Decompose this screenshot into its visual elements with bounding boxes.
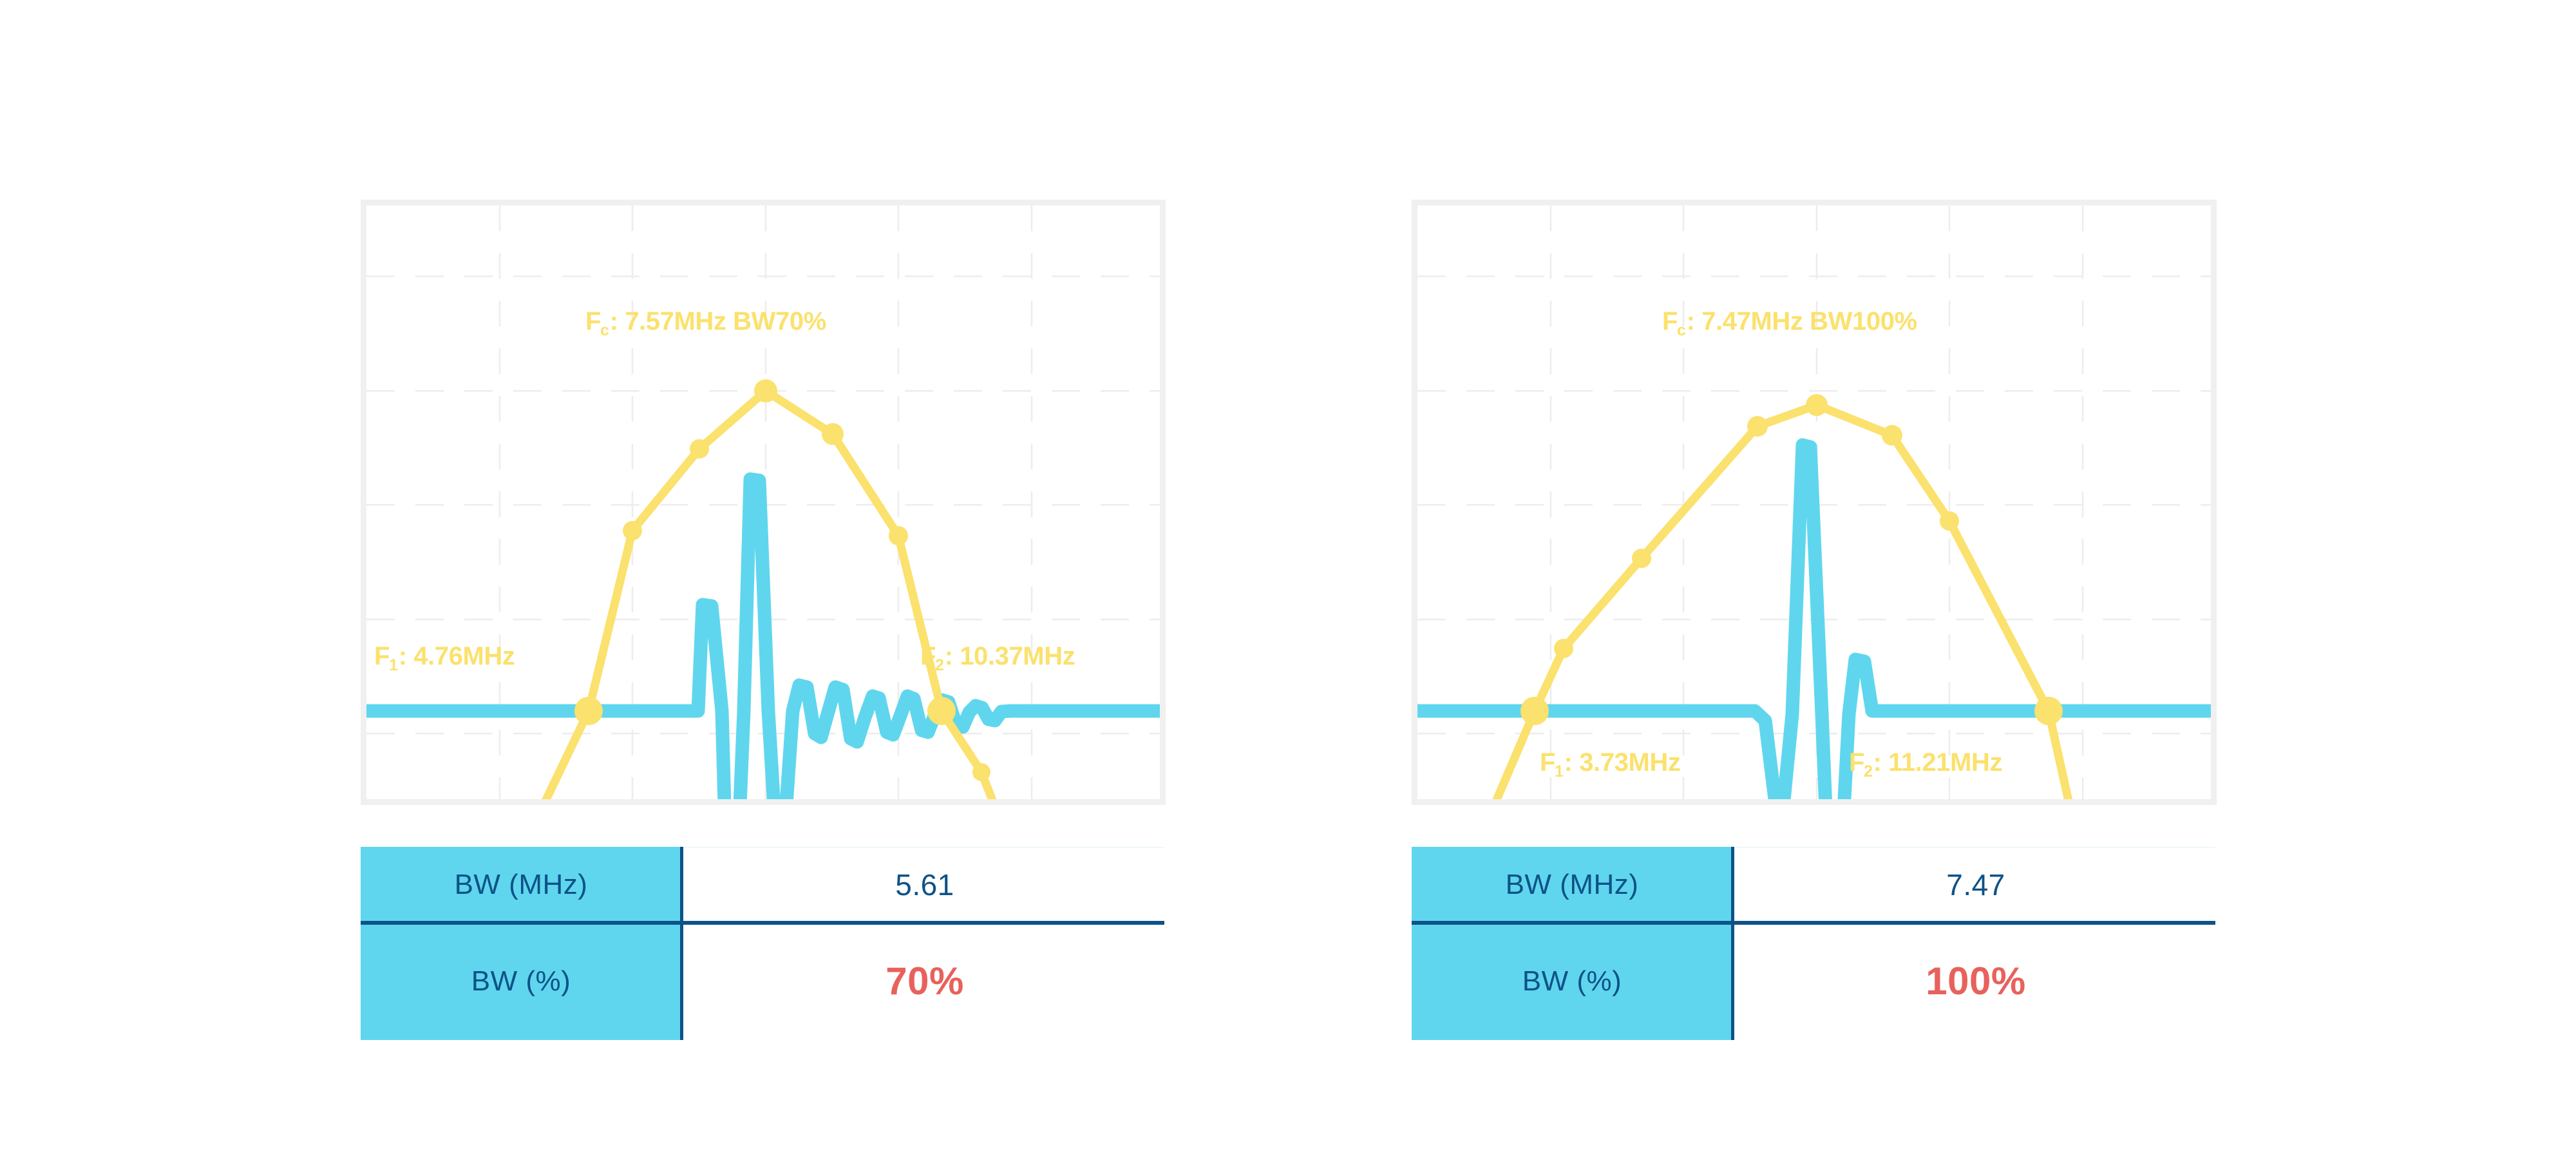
label-fc-text: : 7.47MHz BW100%	[1687, 307, 1917, 336]
label-f1-prefix: F	[1540, 748, 1555, 777]
label-f2-bw70: F2: 10.37MHz	[920, 643, 1075, 669]
table-cell-key: BW (MHz)	[1412, 847, 1732, 922]
bw-percent-label: BW (%)	[1522, 965, 1622, 998]
bw-mhz-label: BW (MHz)	[455, 869, 588, 901]
table-cell-key: BW (%)	[1412, 922, 1732, 1040]
label-f1-subscript: 1	[389, 656, 398, 674]
plot-frame-bw100: Fc: 7.47MHz BW100% F1: 3.73MHz F2: 11.21…	[1412, 200, 2217, 805]
label-f1-subscript: 1	[1555, 762, 1564, 780]
bw-mhz-value: 7.47	[1946, 867, 2005, 902]
bw-mhz-value: 5.61	[895, 867, 954, 902]
table-top-hairline	[1732, 847, 2215, 848]
spectrum-plot-bw70	[366, 205, 1160, 799]
label-fc-bw100: Fc: 7.47MHz BW100%	[1662, 308, 1917, 334]
spectrum-plot-bw100	[1417, 205, 2211, 799]
label-f1-bw100: F1: 3.73MHz	[1540, 750, 1680, 775]
label-f2-subscript: 2	[935, 656, 944, 674]
rf-pulse-waveform-bw70	[366, 479, 1160, 799]
table-row-divider	[361, 921, 1164, 925]
label-fc-subscript: c	[600, 321, 609, 339]
label-f1-text: : 3.73MHz	[1564, 748, 1681, 777]
table-row: BW (MHz) 5.61	[361, 847, 1164, 922]
label-fc-subscript: c	[1677, 321, 1686, 339]
table-cell-value: 100%	[1732, 922, 2215, 1040]
label-f2-prefix: F	[920, 642, 936, 670]
panel-bw70: Fc: 7.57MHz BW70% F1: 4.76MHz F2: 10.37M…	[361, 200, 1166, 805]
label-f1-bw70: F1: 4.76MHz	[374, 643, 515, 669]
table-top-hairline	[681, 847, 1164, 848]
table-row: BW (MHz) 7.47	[1412, 847, 2215, 922]
bw-mhz-label: BW (MHz)	[1506, 869, 1639, 901]
label-f1-prefix: F	[374, 642, 390, 670]
plot-area-bw70	[366, 205, 1160, 799]
table-cell-value: 7.47	[1732, 847, 2215, 922]
table-cell-value: 70%	[681, 922, 1164, 1040]
plot-frame-bw70: Fc: 7.57MHz BW70% F1: 4.76MHz F2: 10.37M…	[361, 200, 1166, 805]
label-fc-prefix: F	[1662, 307, 1678, 336]
label-f2-prefix: F	[1849, 748, 1864, 777]
label-fc-text: : 7.57MHz BW70%	[610, 307, 826, 336]
rf-pulse-waveform-bw100	[1417, 445, 2211, 799]
label-f1-text: : 4.76MHz	[399, 642, 515, 670]
panel-bw100: Fc: 7.47MHz BW100% F1: 3.73MHz F2: 11.21…	[1412, 200, 2217, 805]
table-cell-value: 5.61	[681, 847, 1164, 922]
label-f2-bw100: F2: 11.21MHz	[1849, 750, 2002, 775]
label-fc-bw70: Fc: 7.57MHz BW70%	[585, 308, 826, 334]
label-fc-prefix: F	[585, 307, 601, 336]
table-row: BW (%) 100%	[1412, 922, 2215, 1040]
bw-percent-label: BW (%)	[471, 965, 571, 998]
table-row-divider	[1412, 921, 2215, 925]
bw-percent-value: 70%	[885, 959, 964, 1003]
table-cell-key: BW (MHz)	[361, 847, 681, 922]
label-f2-text: : 11.21MHz	[1873, 748, 2003, 777]
table-row: BW (%) 70%	[361, 922, 1164, 1040]
label-f2-text: : 10.37MHz	[945, 642, 1075, 670]
bw-percent-value: 100%	[1926, 959, 2025, 1003]
label-f2-subscript: 2	[1864, 762, 1873, 780]
bw-table-bw70: BW (MHz) 5.61 BW (%) 70%	[361, 847, 1164, 1040]
table-column-divider	[680, 847, 683, 1040]
table-column-divider	[1731, 847, 1734, 1040]
table-cell-key: BW (%)	[361, 922, 681, 1040]
bw-table-bw100: BW (MHz) 7.47 BW (%) 100%	[1412, 847, 2215, 1040]
plot-area-bw100	[1417, 205, 2211, 799]
figure-root: Fc: 7.57MHz BW70% F1: 4.76MHz F2: 10.37M…	[0, 0, 2576, 1154]
